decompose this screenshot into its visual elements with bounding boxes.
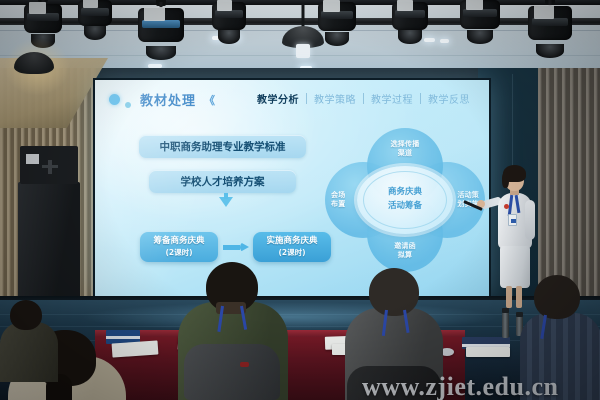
presenter-hair-side [502,172,509,188]
presenter-right-arm [525,200,535,240]
diagram-core-line1: 商务庆典 [388,186,422,200]
stage-light-icon [138,2,184,54]
flow-arrow-icon [223,243,249,252]
stage-light-icon [392,0,428,38]
stage-light-icon [460,0,500,38]
wall-sconce-icon [14,44,54,78]
podium-card [26,154,39,164]
petal-bottom-line2: 拟算 [394,251,416,260]
petal-left-line1: 会场 [331,191,345,200]
paper-sheet [466,347,510,357]
down-arrow-icon [219,197,233,207]
brand-dot-small-icon [125,102,131,108]
audience-member [0,300,58,360]
downlight-icon [440,39,449,43]
diagram-core-line2: 活动筹备 [388,200,422,214]
flow-box-implement-title: 实施商务庆典 [266,236,317,247]
nav-item-teaching-strategy[interactable]: 教学策略 [307,91,363,106]
petal-left-line2: 布置 [331,200,345,209]
jacket-label [240,362,249,367]
flow-box-implement-hours: (2课时) [278,248,305,258]
stage-light-icon [24,0,62,42]
slide-title: 教材处理 [140,90,196,109]
chevron-left-icon: 《 [204,92,215,108]
slide-header: 教材处理 《 教学分析 教学策略 教学过程 教学反思 [95,90,489,116]
draped-jacket [184,344,280,400]
flow-box-prepare-title: 筹备商务庆典 [153,236,204,247]
flow-box-implement: 实施商务庆典 (2课时) [253,232,331,262]
flow-box-prepare-hours: (2课时) [165,248,192,258]
presenter-id-badge [508,214,517,226]
stage-light-icon [528,0,572,52]
flow-box-prepare: 筹备商务庆典 (2课时) [140,232,218,262]
petal-bottom-line1: 邀请函 [394,242,416,251]
petal-top-line2: 渠道 [391,149,420,158]
audience-member [178,262,288,400]
water-bottle [502,312,509,338]
slide-brand: 教材处理 《 [109,90,215,109]
nav-item-teaching-reflection[interactable]: 教学反思 [421,91,477,106]
stage-light-icon [78,0,112,34]
downlight-icon [424,38,435,42]
stage-light-icon [212,0,246,38]
watermark: www.zjiet.edu.cn [362,372,558,400]
nav-item-teaching-process[interactable]: 教学过程 [364,91,420,106]
slide-content: 教材处理 《 教学分析 教学策略 教学过程 教学反思 中职商务助理专业教学标准 … [95,80,489,296]
nav-item-teaching-analysis[interactable]: 教学分析 [250,91,306,106]
podium [18,182,80,300]
standard-box-school-plan: 学校人才培养方案 [149,170,296,193]
pendant-lamp-icon [282,26,324,56]
standard-box-curriculum: 中职商务助理专业教学标准 [139,135,306,158]
brand-dot-large-icon [109,94,120,105]
presentation-photo: 教材处理 《 教学分析 教学策略 教学过程 教学反思 中职商务助理专业教学标准 … [0,0,600,400]
petal-right-line1: 活动策 [457,191,479,200]
projection-screen: 教材处理 《 教学分析 教学策略 教学过程 教学反思 中职商务助理专业教学标准 … [93,78,491,298]
slide-nav: 教学分析 教学策略 教学过程 教学反思 [250,91,477,106]
petal-top-line1: 选择传播 [391,140,420,149]
podium-mic-arm [42,165,58,168]
diagram-core: 商务庆典 活动筹备 [363,171,447,229]
presenter-badge-pin-icon [504,204,509,209]
